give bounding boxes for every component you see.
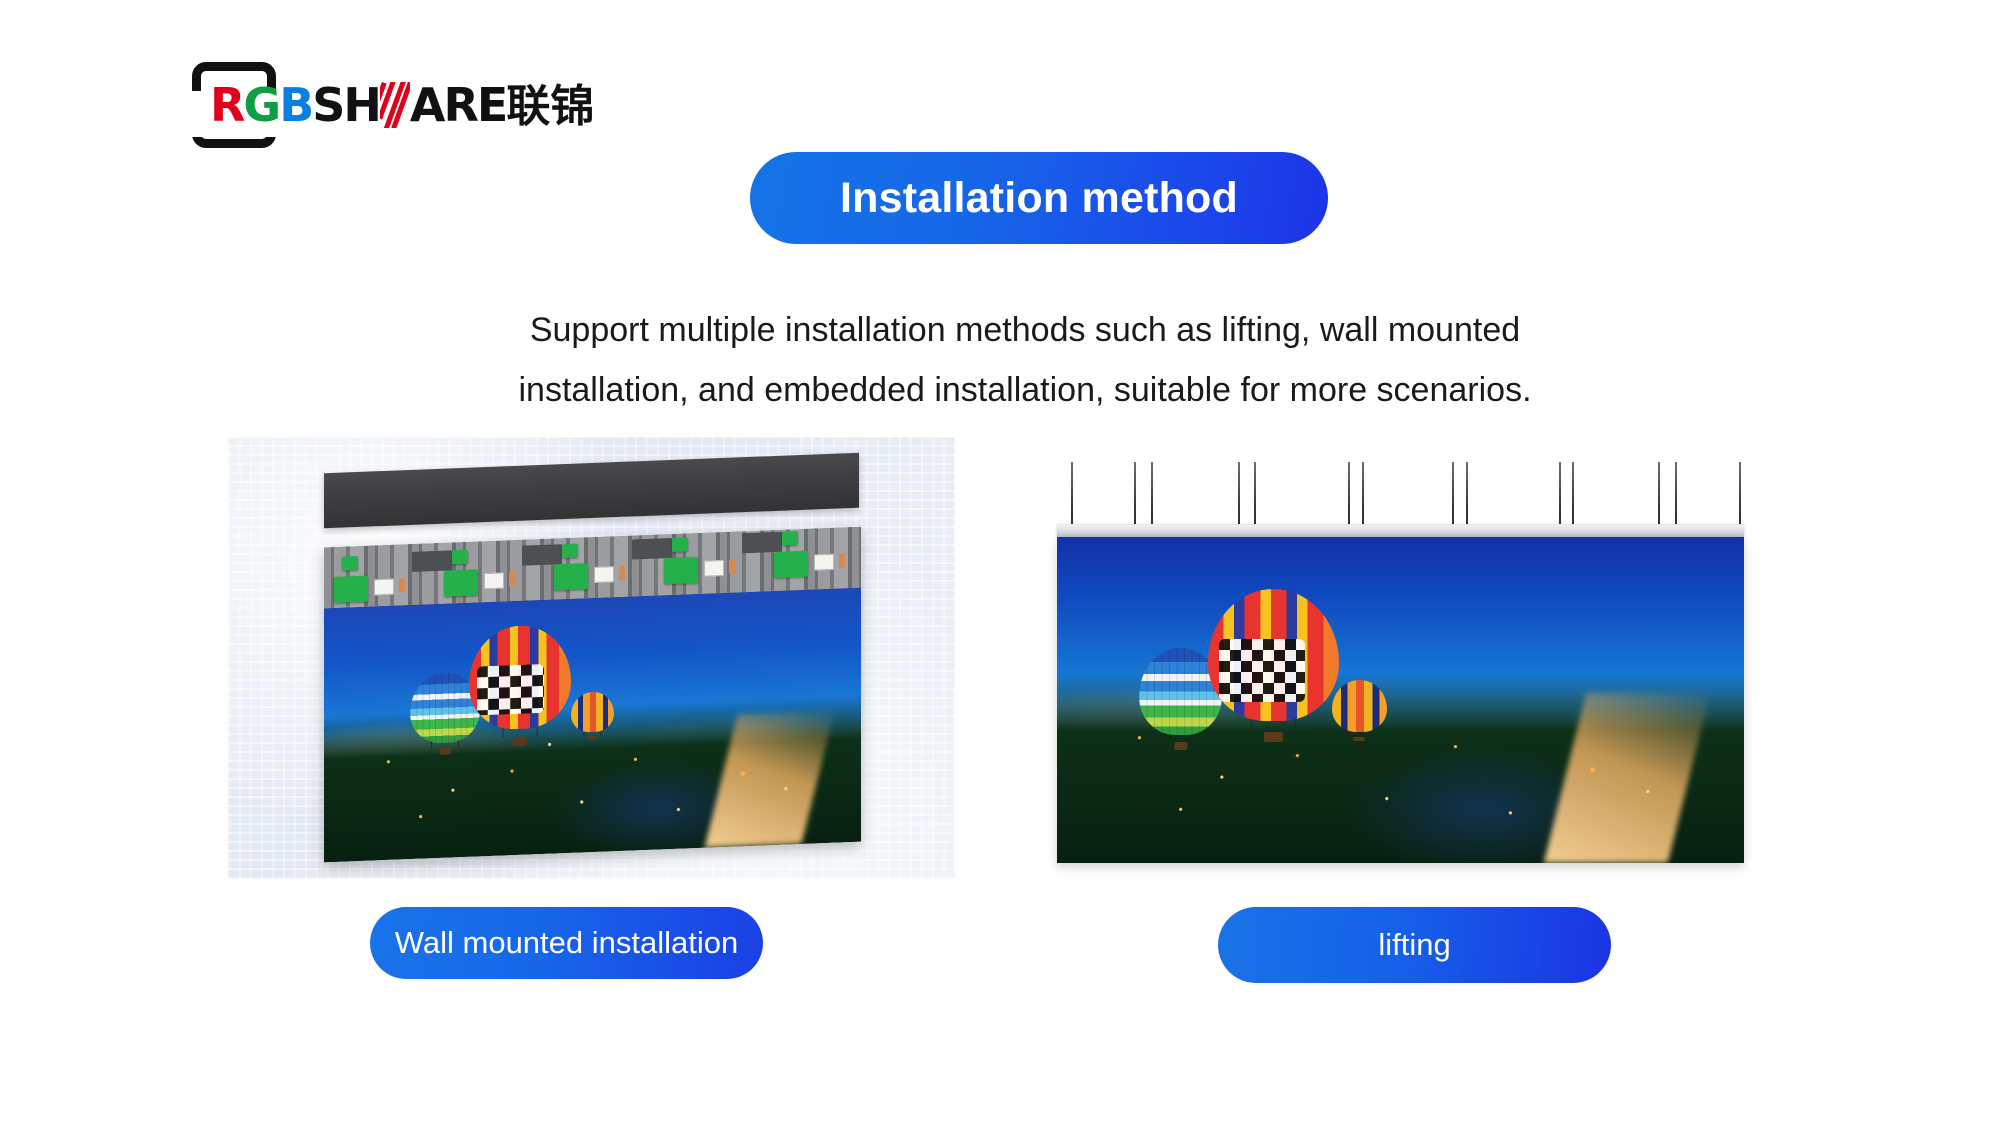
- logo-text-sh: SH: [312, 78, 380, 132]
- page-title-pill: Installation method: [750, 152, 1328, 244]
- caption-pill-wall-mounted: Wall mounted installation: [370, 907, 763, 979]
- logo-text-are: ARE: [410, 78, 506, 132]
- balloon-red: [1208, 589, 1339, 745]
- caption-label-wall-mounted: Wall mounted installation: [395, 925, 738, 961]
- page-title: Installation method: [840, 174, 1238, 223]
- balloon-yellow: [571, 691, 614, 741]
- description-line-2: installation, and embedded installation,…: [400, 360, 1650, 420]
- led-panel-lifting: [1057, 537, 1744, 863]
- suspension-rail: [1057, 524, 1744, 537]
- balloon-yellow: [1332, 680, 1387, 742]
- description-text: Support multiple installation methods su…: [400, 300, 1650, 420]
- led-panel-wall: [324, 527, 861, 863]
- logo-text-chinese: 联锦: [506, 81, 594, 132]
- led-screen-content-right: [1057, 537, 1744, 863]
- logo-letter-b: B: [279, 78, 312, 132]
- logo-wordmark: RGBSHARE联锦: [210, 82, 594, 130]
- caption-pill-lifting: lifting: [1218, 907, 1611, 983]
- figure-lifting: [1057, 462, 1744, 863]
- logo-letter-g: G: [243, 78, 279, 132]
- figure-wall-mounted: [228, 437, 955, 879]
- hanging-cables-group: [1057, 462, 1744, 529]
- caption-label-lifting: lifting: [1378, 927, 1450, 963]
- brand-logo: RGBSHARE联锦: [192, 62, 572, 148]
- slide-root: RGBSHARE联锦 Installation method Support m…: [0, 0, 2000, 1125]
- logo-slash-icon: [380, 82, 410, 128]
- description-line-1: Support multiple installation methods su…: [400, 300, 1650, 360]
- balloon-red: [469, 624, 571, 750]
- led-screen-content-left: [324, 588, 861, 863]
- logo-letter-r: R: [210, 78, 243, 132]
